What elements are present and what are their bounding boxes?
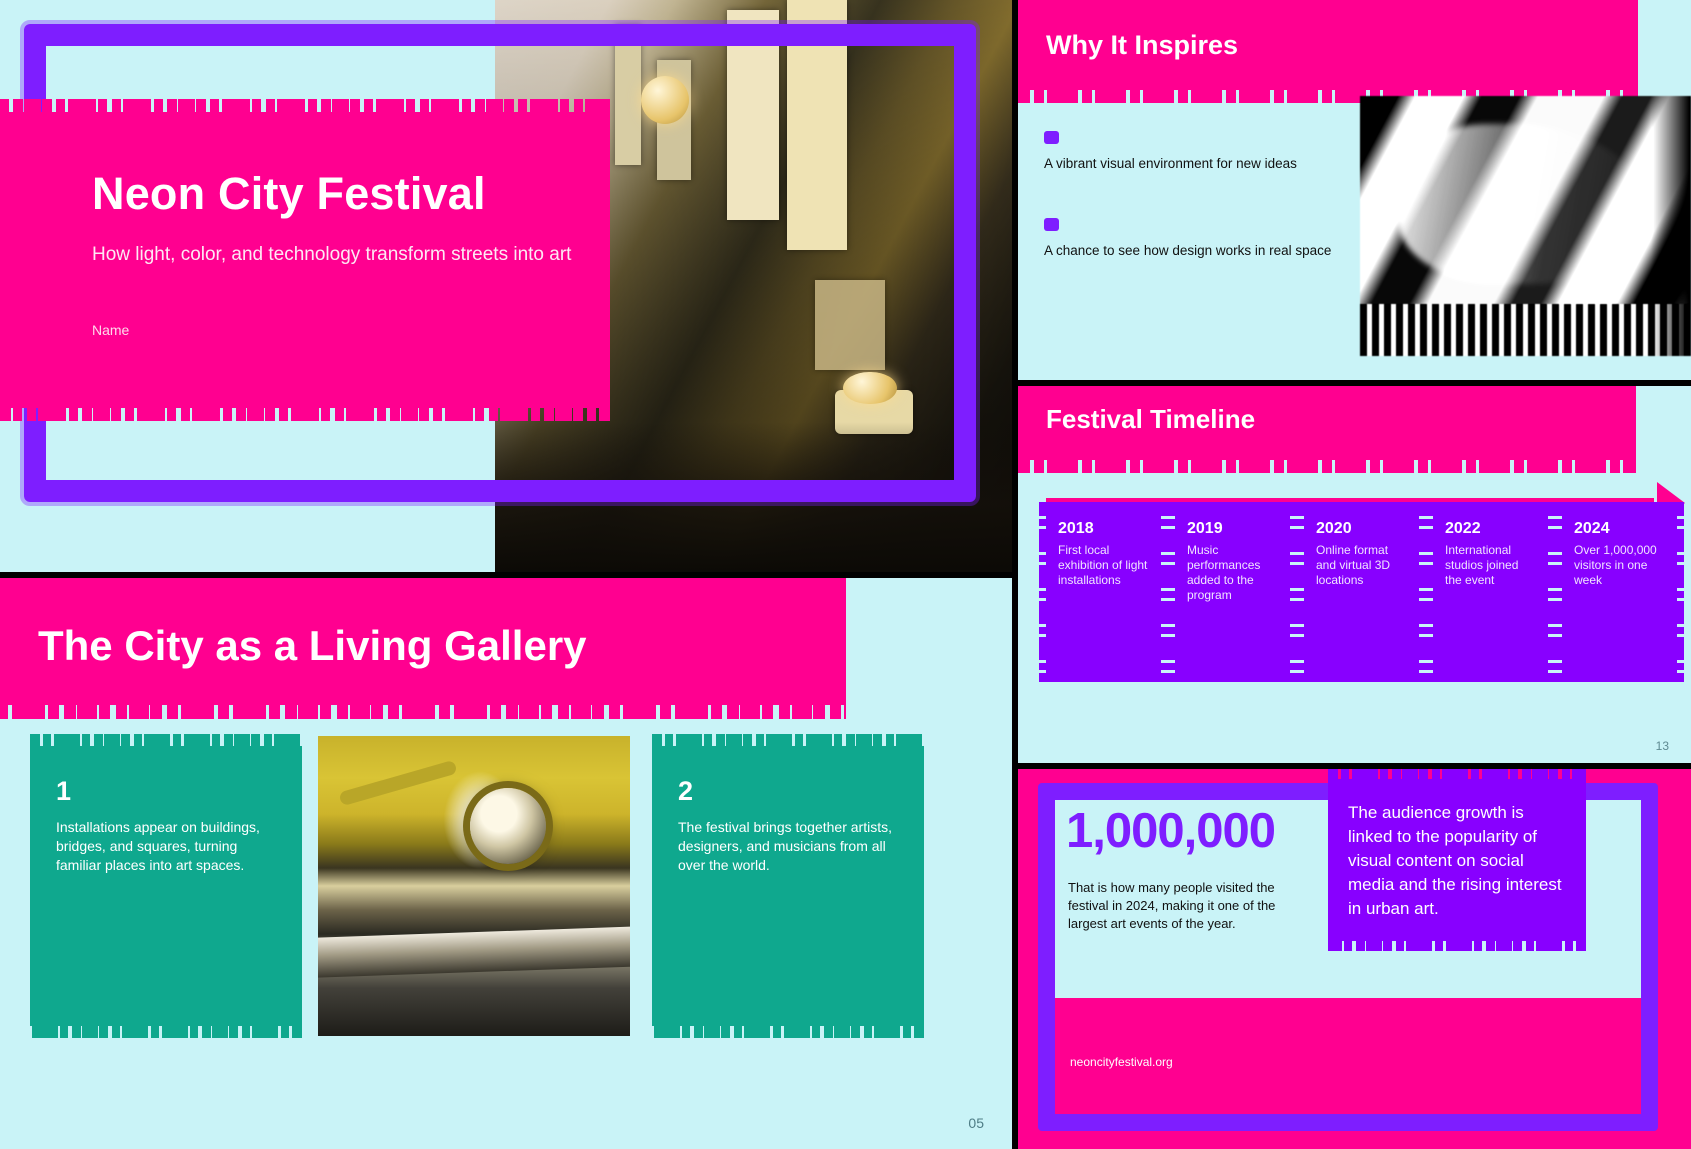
car-hood-accent (338, 760, 457, 807)
slide-deck-board: Neon City Festival How light, color, and… (0, 0, 1691, 1149)
gallery-card-body: The festival brings together artists, de… (678, 818, 898, 875)
motion-blur-subject (1398, 124, 1648, 284)
title-subtitle: How light, color, and technology transfo… (92, 242, 592, 268)
timeline-card[interactable]: 2022 International studios joined the ev… (1433, 502, 1548, 682)
photo-vignette (1651, 96, 1691, 356)
inspires-bw-photo (1360, 96, 1691, 356)
gallery-card[interactable]: 1 Installations appear on buildings, bri… (30, 746, 302, 1026)
lantern-icon (843, 372, 897, 404)
timeline-card[interactable]: 2018 First local exhibition of light ins… (1046, 502, 1161, 682)
slide-living-gallery[interactable]: The City as a Living Gallery 1 Installat… (0, 578, 1012, 1149)
timeline-desc: Music performances added to the program (1187, 543, 1278, 603)
timeline-heading: Festival Timeline (1046, 404, 1255, 435)
gallery-card[interactable]: 2 The festival brings together artists, … (652, 746, 924, 1026)
timeline-desc: Over 1,000,000 visitors in one week (1574, 543, 1665, 588)
slide-title[interactable]: Neon City Festival How light, color, and… (0, 0, 1012, 572)
neon-sign-board (615, 25, 641, 165)
page-number: 13 (1656, 739, 1669, 753)
iron-railing (1360, 304, 1691, 356)
timeline-desc: Online format and virtual 3D locations (1316, 543, 1407, 588)
list-item: A chance to see how design works in real… (1044, 218, 1334, 259)
gutter-vertical (1012, 0, 1018, 1149)
square-bullet-icon (1044, 131, 1059, 144)
gutter-horizontal (0, 572, 1012, 578)
neon-sign-board (727, 10, 779, 220)
square-bullet-icon (1044, 218, 1059, 231)
page-title: Neon City Festival (92, 168, 486, 220)
timeline-desc: International studios joined the event (1445, 543, 1536, 588)
page-number: 05 (968, 1115, 984, 1131)
slide-festival-timeline[interactable]: Festival Timeline 2018 First local exhib… (1018, 386, 1691, 763)
gutter-horizontal (1018, 380, 1691, 386)
gallery-car-photo (318, 736, 630, 1036)
gutter-horizontal (1018, 763, 1691, 769)
stat-quote-text: The audience growth is linked to the pop… (1348, 801, 1566, 921)
gallery-card-number: 2 (678, 778, 898, 805)
bullet-text: A chance to see how design works in real… (1044, 242, 1334, 259)
timeline-year: 2019 (1187, 520, 1278, 538)
timeline-card[interactable]: 2024 Over 1,000,000 visitors in one week (1562, 502, 1677, 682)
big-number: 1,000,000 (1066, 803, 1275, 859)
gallery-card-number: 1 (56, 778, 276, 805)
lantern-icon (641, 76, 689, 124)
timeline-year: 2024 (1574, 520, 1665, 538)
timeline-year: 2020 (1316, 520, 1407, 538)
inspires-heading: Why It Inspires (1046, 30, 1238, 61)
stat-body-text: That is how many people visited the fest… (1068, 879, 1300, 933)
timeline-card[interactable]: 2020 Online format and virtual 3D locati… (1304, 502, 1419, 682)
timeline-card[interactable]: 2019 Music performances added to the pro… (1175, 502, 1290, 682)
car-bumper (318, 926, 630, 978)
crowd-shadow (495, 422, 1012, 572)
gallery-card-body: Installations appear on buildings, bridg… (56, 818, 276, 875)
car-headlight (470, 788, 546, 864)
inspires-bullet-panel: A vibrant visual environment for new ide… (1018, 113, 1360, 351)
neon-sign-board (787, 0, 847, 250)
slide-why-it-inspires[interactable]: Why It Inspires A vibrant visual environ… (1018, 0, 1691, 380)
gallery-heading: The City as a Living Gallery (38, 622, 587, 670)
timeline-year: 2018 (1058, 520, 1149, 538)
website-url[interactable]: neoncityfestival.org (1070, 1055, 1173, 1069)
bullet-text: A vibrant visual environment for new ide… (1044, 155, 1334, 172)
stat-quote-box: The audience growth is linked to the pop… (1328, 779, 1586, 941)
list-item: A vibrant visual environment for new ide… (1044, 131, 1334, 172)
timeline-year: 2022 (1445, 520, 1536, 538)
timeline-desc: First local exhibition of light installa… (1058, 543, 1149, 588)
neon-sign-board (815, 280, 885, 370)
slide-audience-stat[interactable]: 1,000,000 That is how many people visite… (1018, 769, 1691, 1149)
presenter-name: Name (92, 322, 129, 338)
